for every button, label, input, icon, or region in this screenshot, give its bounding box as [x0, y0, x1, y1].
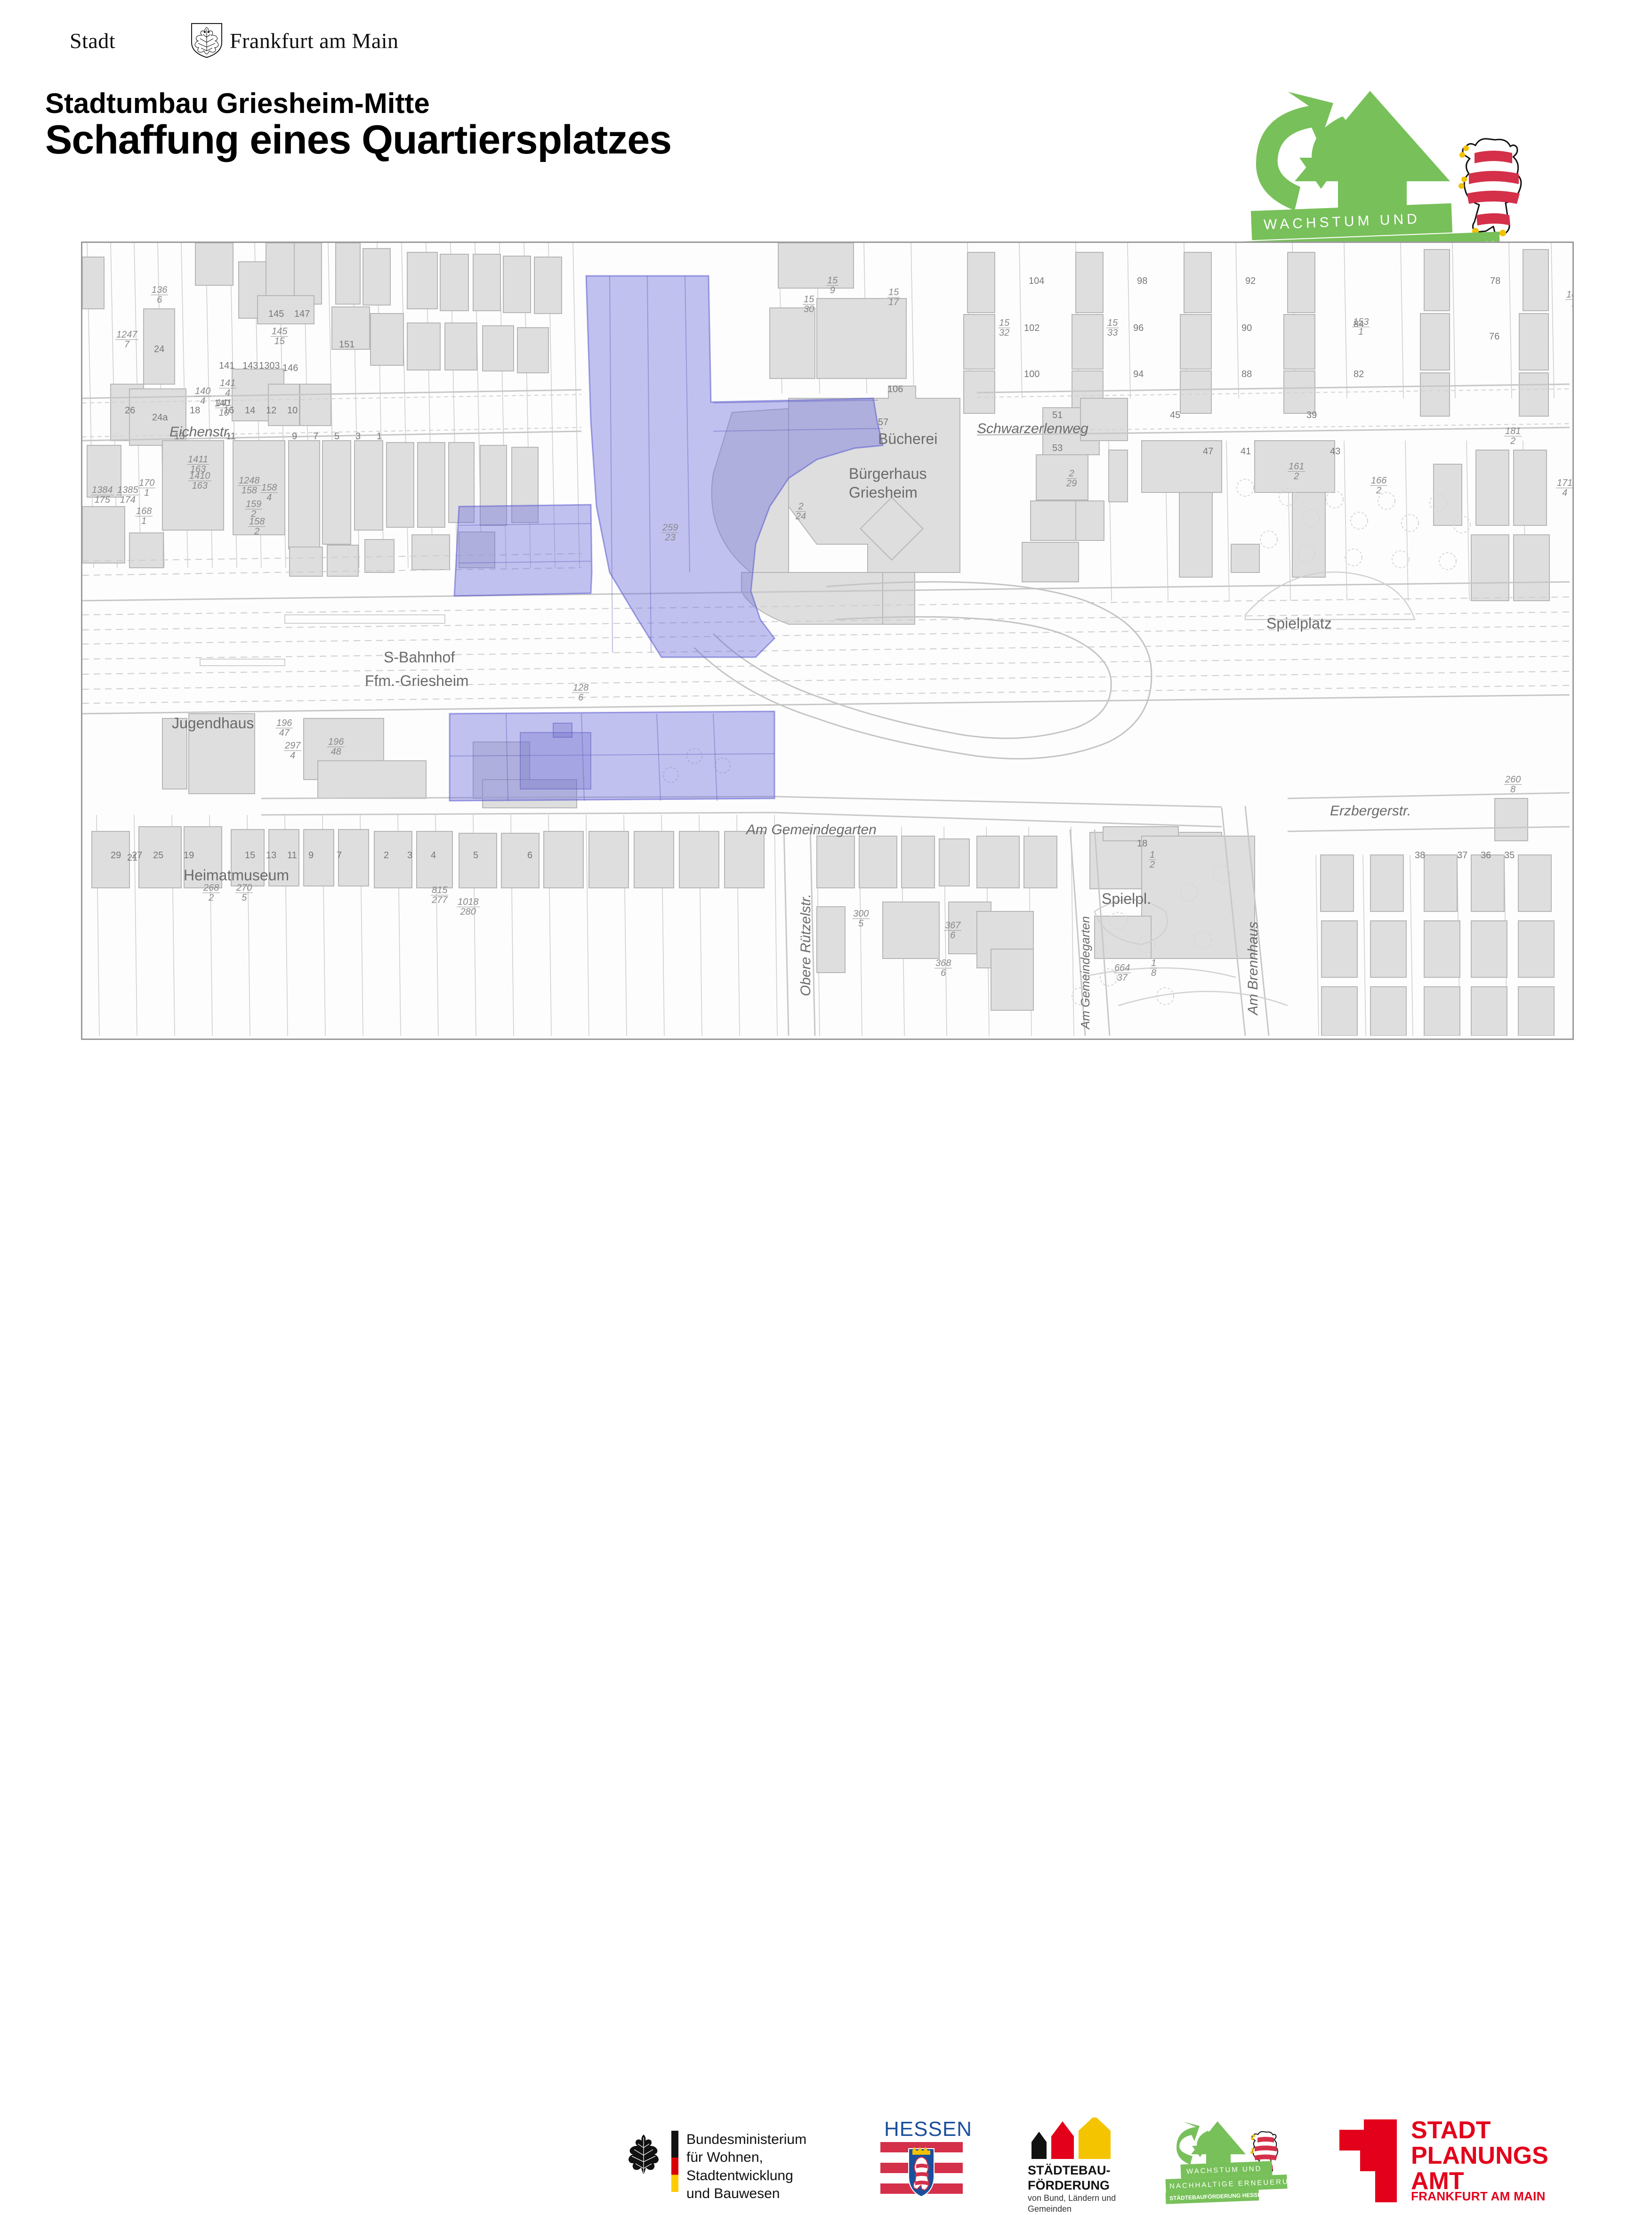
hessen-lion-shield-icon	[908, 2147, 935, 2198]
staedtebau-line1: STÄDTEBAU-	[1028, 2163, 1111, 2178]
bmwsb-text: Bundesministerium für Wohnen, Stadtentwi…	[686, 2131, 847, 2203]
bundesadler-icon	[626, 2133, 661, 2175]
city-logo-word-stadt: Stadt	[70, 28, 115, 53]
staedtebau-text: STÄDTEBAU- FÖRDERUNG	[1028, 2163, 1111, 2193]
spa-line1: STADT	[1411, 2118, 1548, 2143]
map-canvas	[82, 243, 1570, 1036]
bmwsb-line1: Bundesministerium	[686, 2131, 847, 2149]
staedtebau-sub2: Gemeinden	[1028, 2204, 1116, 2215]
logo-hessen: HESSEN	[880, 2118, 963, 2203]
frankfurt-city-mark-icon	[1339, 2119, 1397, 2202]
page-title: Schaffung eines Quartiersplatzes	[45, 117, 671, 163]
logo-stadtplanungsamt: STADT PLANUNGS AMT FRANKFURT AM MAIN	[1339, 2118, 1556, 2207]
staedtebau-line2: FÖRDERUNG	[1028, 2178, 1111, 2193]
bmwsb-line2: für Wohnen, Stadtentwicklung	[686, 2149, 847, 2185]
three-houses-icon	[1029, 2118, 1123, 2159]
spa-line2: PLANUNGS	[1411, 2143, 1548, 2168]
city-logo: Stadt Frankfurt am Main	[70, 24, 371, 56]
page-subtitle: Stadtumbau Griesheim-Mitte	[45, 87, 430, 120]
page-footer: Bundesministerium für Wohnen, Stadtentwi…	[0, 1055, 1652, 1168]
page-header: Stadt Frankfurt am Main Stadtumbau Gries…	[0, 0, 1652, 235]
staedtebau-subtext: von Bund, Ländern und Gemeinden	[1028, 2193, 1116, 2215]
logo-wne-footer: WACHSTUM UND NACHHALTIGE ERNEUERUNG STÄD…	[1163, 2119, 1314, 2204]
bmwsb-line3: und Bauwesen	[686, 2185, 847, 2203]
staedtebau-sub1: von Bund, Ländern und	[1028, 2193, 1116, 2204]
hessen-wordmark: HESSEN	[884, 2118, 972, 2141]
german-flag-bar-icon	[671, 2131, 678, 2192]
frankfurt-eagle-crest-icon	[189, 22, 225, 58]
city-logo-word-frankfurt: Frankfurt am Main	[230, 28, 399, 53]
logo-bmwsb: Bundesministerium für Wohnen, Stadtentwi…	[626, 2122, 847, 2202]
stadtplanungsamt-wordmark: STADT PLANUNGS AMT	[1411, 2118, 1548, 2194]
cadastral-map[interactable]: Eichenstr. Schwarzerlenweg Am Gemeindega…	[81, 242, 1574, 1040]
spa-subline: FRANKFURT AM MAIN	[1411, 2189, 1546, 2204]
hessen-lion-icon	[1450, 134, 1525, 242]
logo-staedtebaufoerderung: STÄDTEBAU- FÖRDERUNG von Bund, Ländern u…	[1024, 2118, 1156, 2207]
